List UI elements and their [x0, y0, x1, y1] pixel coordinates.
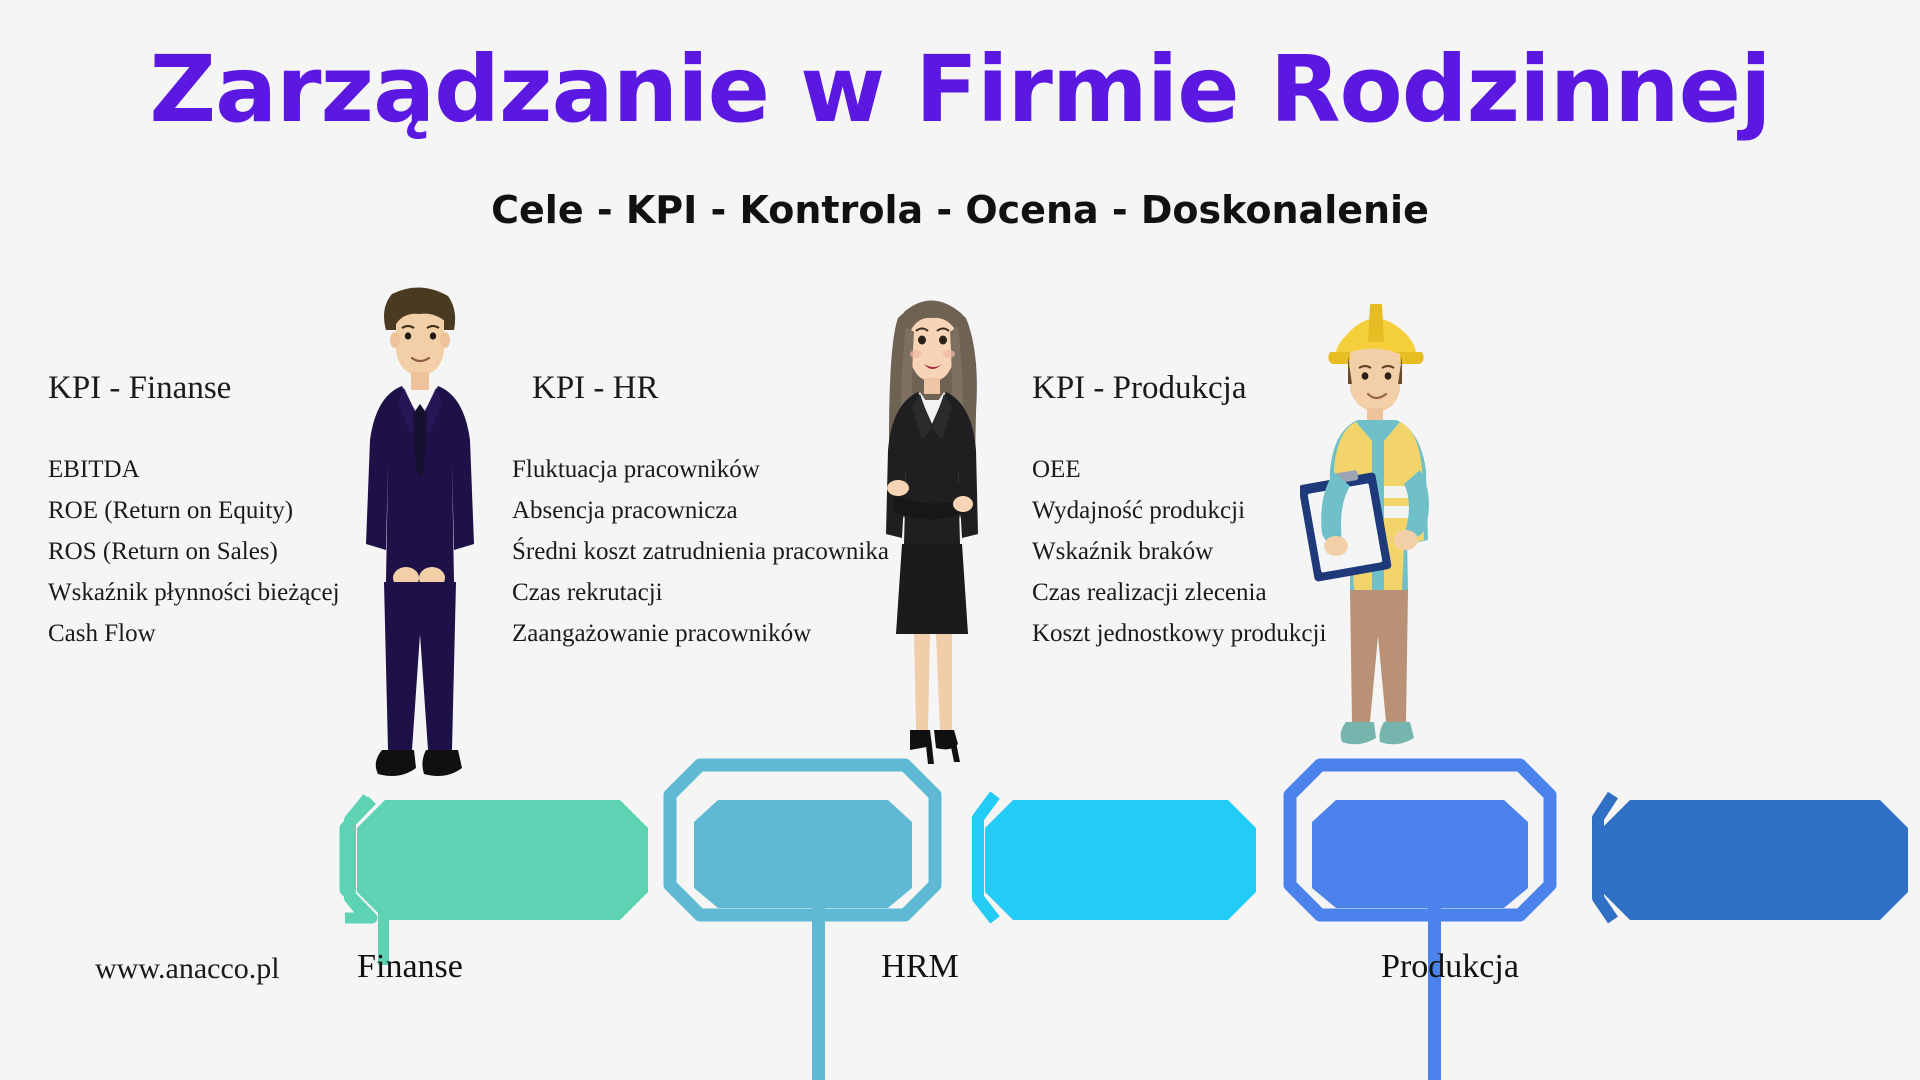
platform-label-finanse: Finanse	[280, 948, 540, 986]
list-item: OEE	[1032, 449, 1326, 490]
kpi-list-produkcja: OEE Wydajność produkcji Wskaźnik braków …	[1032, 449, 1326, 654]
kpi-column-finanse: KPI - Finanse EBITDA ROE (Return on Equi…	[48, 370, 340, 654]
list-item: Absencja pracownicza	[512, 490, 889, 531]
kpi-heading-finanse: KPI - Finanse	[48, 370, 340, 407]
connector-stem-4	[1428, 900, 1441, 1080]
platform-connector-hr	[670, 765, 935, 915]
infographic-canvas: Zarządzanie w Firmie Rodzinnej Cele - KP…	[0, 0, 1920, 1080]
kpi-list-hr: Fluktuacja pracowników Absencja pracowni…	[512, 449, 889, 654]
page-subtitle: Cele - KPI - Kontrola - Ocena - Doskonal…	[0, 188, 1920, 232]
businesswoman-illustration	[862, 282, 1002, 782]
production-worker-illustration	[1300, 290, 1490, 790]
list-item: ROE (Return on Equity)	[48, 490, 340, 531]
connector-stem-2	[812, 900, 825, 1080]
list-item: Wskaźnik braków	[1032, 531, 1326, 572]
kpi-column-produkcja: KPI - Produkcja OEE Wydajność produkcji …	[1032, 370, 1326, 654]
page-title: Zarządzanie w Firmie Rodzinnej	[0, 42, 1920, 139]
kpi-heading-hr: KPI - HR	[512, 370, 889, 407]
platform-label-hrm: HRM	[790, 948, 1050, 986]
list-item: Wskaźnik płynności bieżącej	[48, 572, 340, 613]
businessman-illustration	[340, 282, 500, 802]
list-item: Koszt jednostkowy produkcji	[1032, 613, 1326, 654]
website-url: www.anacco.pl	[95, 952, 280, 986]
list-item: Czas realizacji zlecenia	[1032, 572, 1326, 613]
list-item: EBITDA	[48, 449, 340, 490]
platform-produkcja	[1598, 795, 1908, 920]
platform-finanse	[345, 798, 648, 920]
kpi-heading-produkcja: KPI - Produkcja	[1032, 370, 1326, 407]
list-item: Zaangażowanie pracowników	[512, 613, 889, 654]
list-item: Czas rekrutacji	[512, 572, 889, 613]
list-item: Średni koszt zatrudnienia pracownika	[512, 531, 889, 572]
list-item: ROS (Return on Sales)	[48, 531, 340, 572]
list-item: Cash Flow	[48, 613, 340, 654]
platform-hrm	[978, 795, 1256, 920]
kpi-list-finanse: EBITDA ROE (Return on Equity) ROS (Retur…	[48, 449, 340, 654]
list-item: Fluktuacja pracowników	[512, 449, 889, 490]
kpi-column-hr: KPI - HR Fluktuacja pracowników Absencja…	[512, 370, 889, 654]
platform-label-produkcja: Produkcja	[1300, 948, 1600, 986]
list-item: Wydajność produkcji	[1032, 490, 1326, 531]
